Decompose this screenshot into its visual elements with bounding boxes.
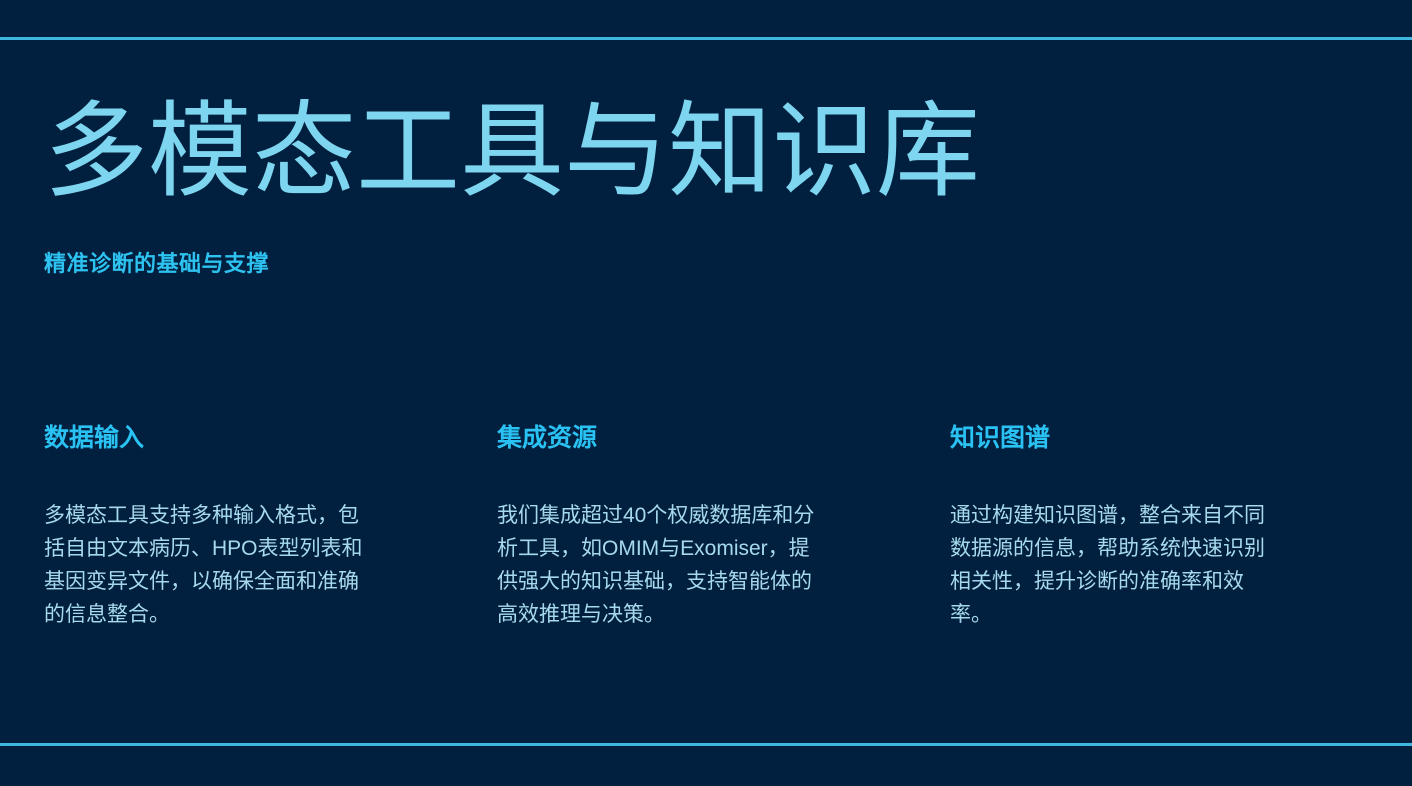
column-heading: 知识图谱 bbox=[950, 423, 1290, 453]
slide-root: 多模态工具与知识库 精准诊断的基础与支撑 数据输入 多模态工具支持多种输入格式，… bbox=[0, 0, 1412, 786]
column-body-text: 多模态工具支持多种输入格式，包括自由文本病历、HPO表型列表和基因变异文件，以确… bbox=[44, 499, 366, 631]
content-column: 知识图谱 通过构建知识图谱，整合来自不同数据源的信息，帮助系统快速识别相关性，提… bbox=[950, 423, 1290, 631]
content-column: 数据输入 多模态工具支持多种输入格式，包括自由文本病历、HPO表型列表和基因变异… bbox=[44, 423, 384, 631]
bottom-divider-rule bbox=[0, 743, 1412, 746]
content-columns: 数据输入 多模态工具支持多种输入格式，包括自由文本病历、HPO表型列表和基因变异… bbox=[44, 423, 1372, 631]
top-divider-rule bbox=[0, 37, 1412, 40]
column-body-text: 我们集成超过40个权威数据库和分析工具，如OMIM与Exomiser，提供强大的… bbox=[497, 499, 819, 631]
content-column: 集成资源 我们集成超过40个权威数据库和分析工具，如OMIM与Exomiser，… bbox=[497, 423, 837, 631]
column-heading: 集成资源 bbox=[497, 423, 837, 453]
slide-title: 多模态工具与知识库 bbox=[44, 94, 980, 210]
column-body-text: 通过构建知识图谱，整合来自不同数据源的信息，帮助系统快速识别相关性，提升诊断的准… bbox=[950, 499, 1272, 631]
slide-subtitle: 精准诊断的基础与支撑 bbox=[44, 246, 269, 278]
column-heading: 数据输入 bbox=[44, 423, 384, 453]
